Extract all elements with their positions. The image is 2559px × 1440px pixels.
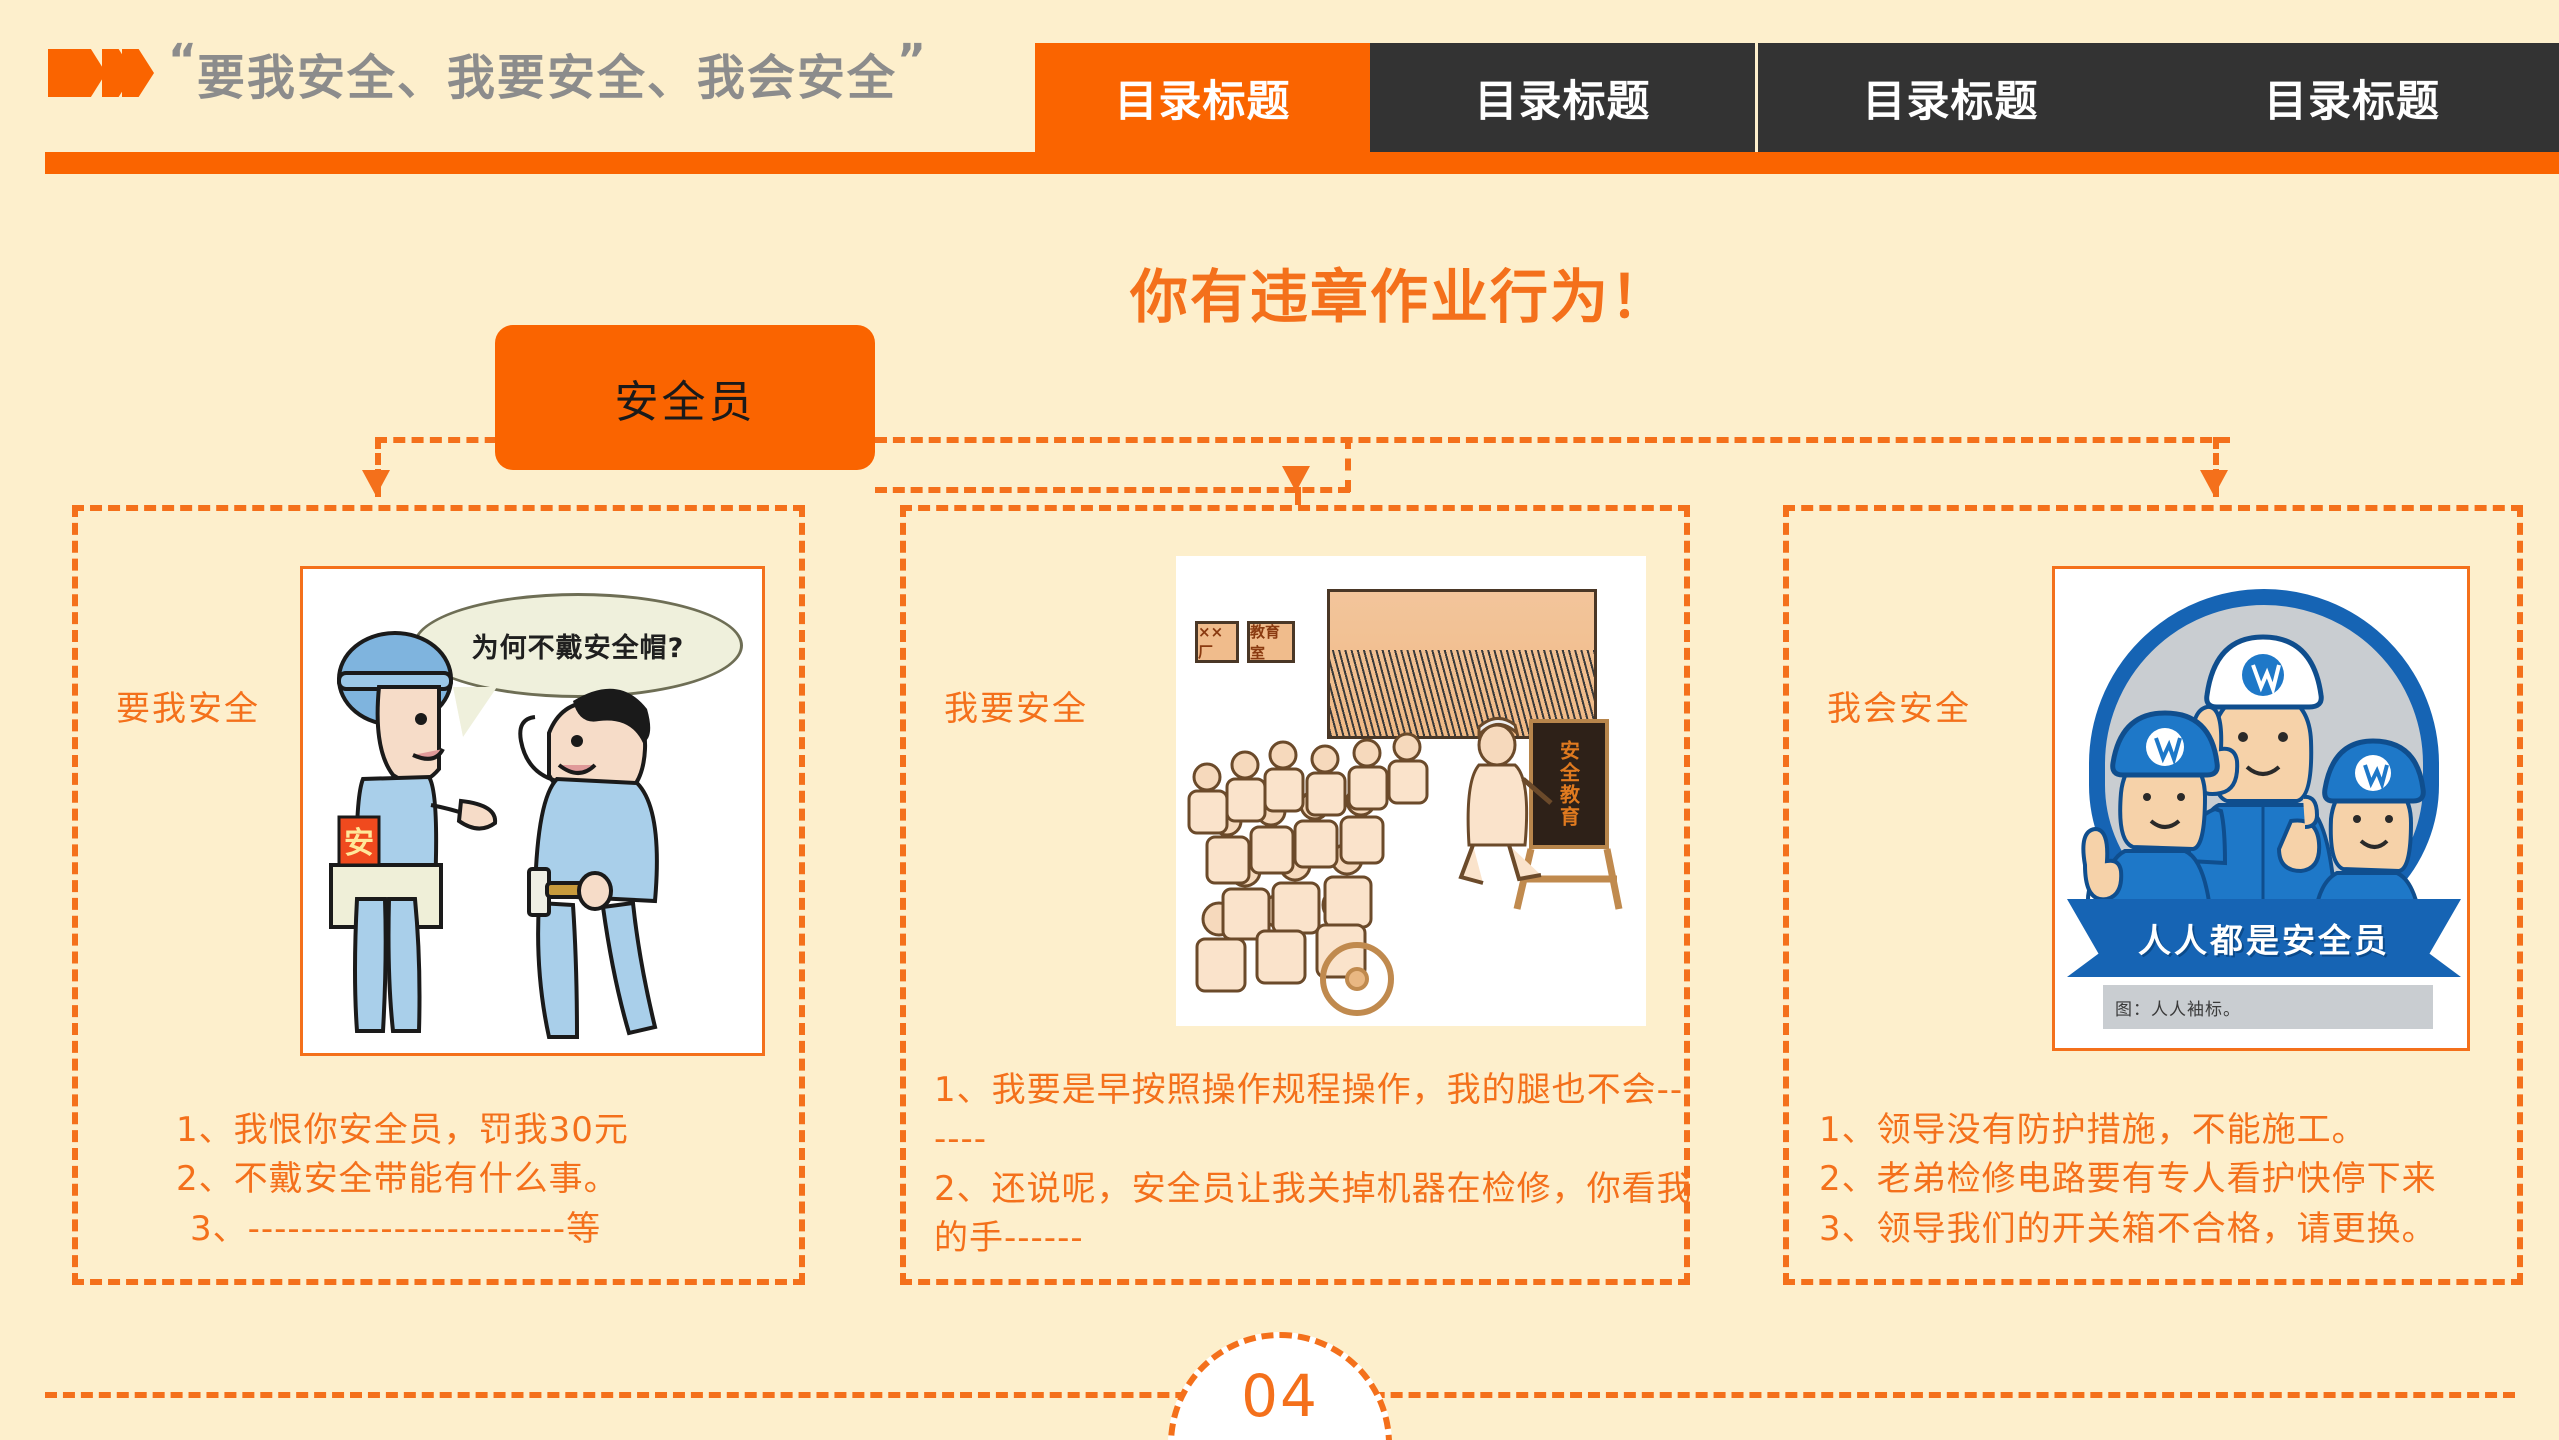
panel-1-line-2: 2、不戴安全带能有什么事。	[176, 1155, 796, 1204]
panel-wo-hui-an-quan: 我会安全	[1783, 505, 2523, 1285]
tab-catalog-3[interactable]: 目录标题	[1755, 43, 2143, 152]
page-number: 04	[1241, 1362, 1319, 1430]
panel-2-line-1: 1、我要是早按照操作规程操作，我的腿也不会------	[934, 1066, 1694, 1165]
safety-education-classroom-cartoon: ××厂 教育室 安全教育	[1179, 559, 1643, 1023]
slide-root: “ 要我安全、我要安全、我会安全 ” 目录标题 目录标题 目录标题 目录标题 你…	[0, 0, 2559, 1440]
double-chevron-icon	[48, 49, 160, 97]
arrow-down-right	[2200, 470, 2228, 496]
brand-quote-left: “	[168, 39, 197, 83]
page-title: 你有违章作业行为！	[1130, 250, 1670, 334]
poster-banner-text: 人人都是安全员	[2138, 914, 2390, 962]
panel-3-line-2: 2、老弟检修电路要有专人看护快停下来	[1819, 1155, 2519, 1204]
panel-1-text: 1、我恨你安全员，罚我30元 2、不戴安全带能有什么事。 3、---------…	[176, 1106, 796, 1254]
tab-catalog-4[interactable]: 目录标题	[2143, 43, 2559, 152]
connector-top-right	[875, 437, 2230, 443]
panel-yao-wo-an-quan: 要我安全 为何不戴安全帽?	[72, 505, 805, 1285]
panel-2-image: ××厂 教育室 安全教育	[1176, 556, 1646, 1026]
panel-3-line-1: 1、领导没有防护措施，不能施工。	[1819, 1106, 2519, 1155]
panel-1-line-1: 1、我恨你安全员，罚我30元	[176, 1106, 796, 1155]
three-workers-thumbs-up-icon	[2055, 569, 2470, 1051]
panel-2-text: 1、我要是早按照操作规程操作，我的腿也不会------ 2、还说呢，安全员让我关…	[934, 1066, 1694, 1263]
arrow-down-middle	[1282, 466, 1310, 492]
tab-catalog-2[interactable]: 目录标题	[1370, 43, 1755, 152]
connector-mid-right	[875, 487, 1350, 493]
panel-1-tag: 要我安全	[116, 681, 260, 730]
cartoon-figures-icon: 安	[303, 569, 765, 1056]
brand-quote-right: ”	[897, 39, 926, 83]
svg-text:安: 安	[344, 826, 374, 861]
role-box-safety-officer[interactable]: 安全员	[495, 325, 875, 470]
panel-3-text: 1、领导没有防护措施，不能施工。 2、老弟检修电路要有专人看护快停下来 3、领导…	[1819, 1106, 2519, 1254]
brand: “ 要我安全、我要安全、我会安全 ”	[48, 38, 926, 108]
panel-3-image: 人人都是安全员 图：人人袖标。	[2052, 566, 2470, 1051]
panel-2-tag: 我要安全	[944, 681, 1088, 730]
nav-tabs: 目录标题 目录标题 目录标题 目录标题	[1035, 43, 2559, 152]
panel-1-line-3: 3、------------------------等	[176, 1205, 796, 1254]
everyone-is-a-safety-officer-poster: 人人都是安全员 图：人人袖标。	[2055, 569, 2467, 1048]
panel-3-line-3: 3、领导我们的开关箱不合格，请更换。	[1819, 1205, 2519, 1254]
classroom-easel-and-audience-icon	[1179, 559, 1646, 1026]
poster-banner: 人人都是安全员	[2067, 899, 2461, 977]
page-number-badge: 04	[1168, 1332, 1392, 1440]
connector-middle-vertical	[1345, 437, 1351, 492]
panel-1-image: 为何不戴安全帽? 安	[300, 566, 765, 1056]
header-underline	[45, 152, 2559, 174]
header: “ 要我安全、我要安全、我会安全 ” 目录标题 目录标题 目录标题 目录标题	[0, 0, 2559, 175]
panel-2-line-2: 2、还说呢，安全员让我关掉机器在检修，你看我的手------	[934, 1165, 1694, 1264]
tab-catalog-1[interactable]: 目录标题	[1035, 43, 1370, 152]
connector-top-left	[375, 437, 515, 443]
arrow-down-left	[362, 470, 390, 496]
panel-3-tag: 我会安全	[1827, 681, 1971, 730]
panel-wo-yao-an-quan: 我要安全 ××厂 教育室 安全教育	[900, 505, 1690, 1285]
safety-officer-helmet-cartoon: 为何不戴安全帽? 安	[303, 569, 762, 1053]
role-box-label: 安全员	[615, 366, 756, 430]
brand-slogan: 要我安全、我要安全、我会安全	[197, 38, 897, 108]
poster-caption: 图：人人袖标。	[2103, 985, 2433, 1029]
